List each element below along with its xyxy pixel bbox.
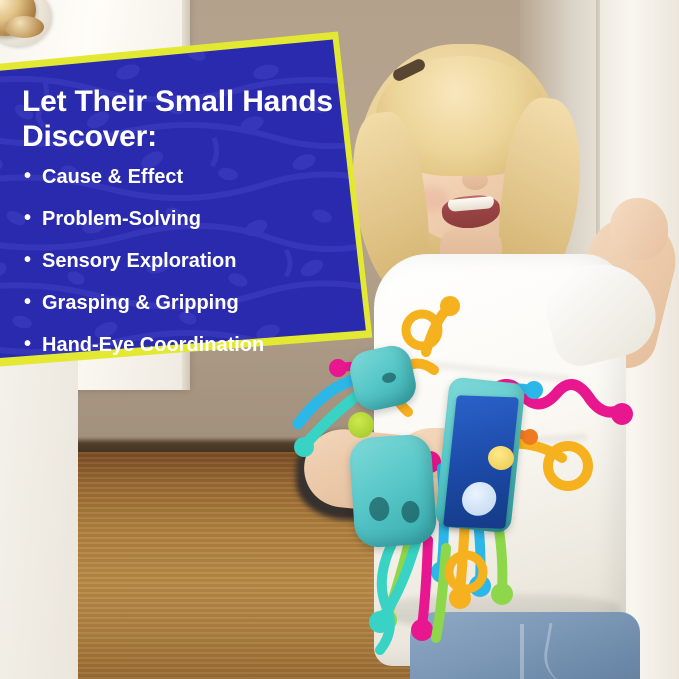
benefits-list: Cause & Effect Problem-Solving Sensory E… xyxy=(24,166,364,376)
bead-magenta-hang xyxy=(411,619,433,641)
bead-green-hang xyxy=(491,583,513,605)
label-seal-icon xyxy=(460,481,498,516)
bead-orange xyxy=(522,429,538,445)
bead-blue xyxy=(525,381,543,399)
heading-line-2: Discover: xyxy=(22,119,352,154)
list-item: Problem-Solving xyxy=(24,208,364,231)
product-lifestyle-image: Let Their Small Hands Discover: Cause & … xyxy=(0,0,679,679)
raised-hand xyxy=(610,198,668,260)
ring-yellow xyxy=(548,446,588,486)
toy-hole xyxy=(401,500,420,523)
string-magenta-hang xyxy=(422,540,428,626)
heading-line-1: Let Their Small Hands xyxy=(22,84,352,119)
toy-body-cube xyxy=(348,433,437,548)
info-panel: Let Their Small Hands Discover: Cause & … xyxy=(0,20,396,380)
list-item: Hand-Eye Coordination xyxy=(24,334,364,357)
toy-hole xyxy=(368,496,390,521)
panel-heading: Let Their Small Hands Discover: xyxy=(22,84,352,154)
green-button-icon xyxy=(348,412,374,438)
list-item: Cause & Effect xyxy=(24,166,364,189)
bead-yellow-top xyxy=(440,296,460,316)
list-item: Grasping & Gripping xyxy=(24,292,364,315)
bead-teal xyxy=(294,437,314,457)
panel-content: Let Their Small Hands Discover: Cause & … xyxy=(0,20,396,380)
list-item: Sensory Exploration xyxy=(24,250,364,273)
bead-magenta xyxy=(611,403,633,425)
lower-door-frame xyxy=(0,358,78,679)
